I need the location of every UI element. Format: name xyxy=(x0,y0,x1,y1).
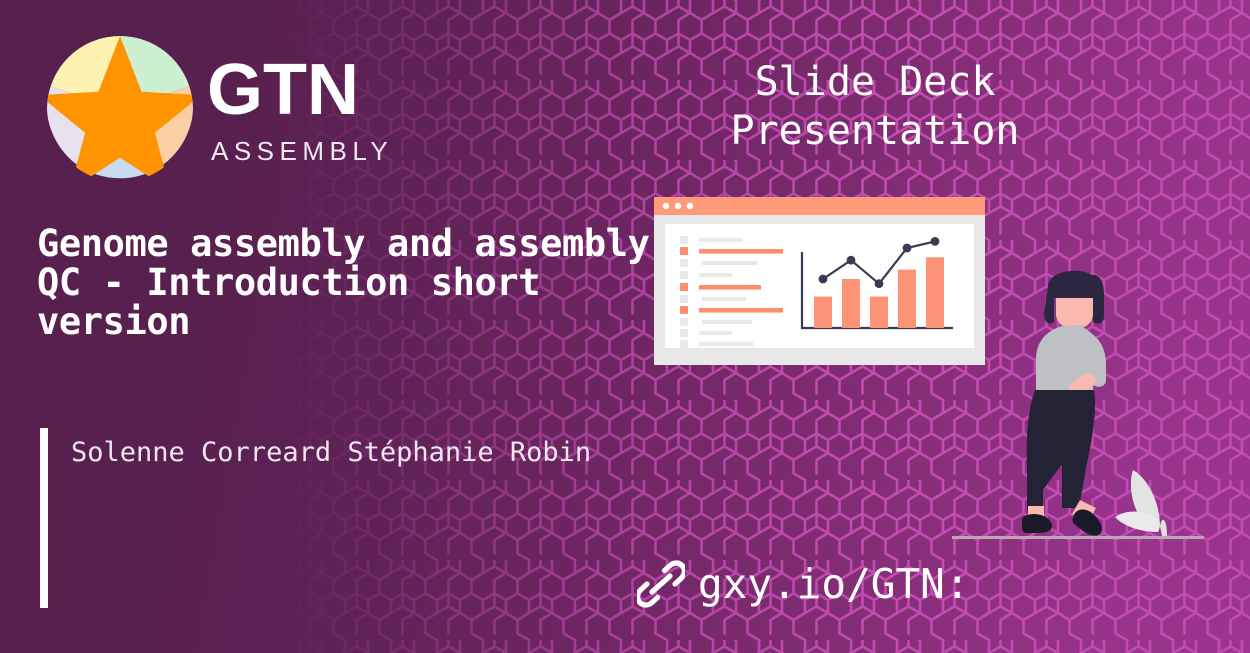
authors-names: Solenne Correard Stéphanie Robin xyxy=(71,434,591,472)
page-title: Genome assembly and assembly QC - Introd… xyxy=(37,224,667,342)
logo-wordmark: GTN xyxy=(207,54,359,126)
authors-accent-bar xyxy=(40,428,48,608)
gtn-logo: GTN ASSEMBLY xyxy=(45,28,425,188)
browser-dot xyxy=(663,203,669,209)
browser-dot xyxy=(687,203,693,209)
footer-link[interactable]: gxy.io/GTN: xyxy=(637,560,970,608)
link-chain-icon xyxy=(637,560,685,608)
deck-kind-heading: Slide Deck Presentation xyxy=(640,58,1110,156)
logo-subtitle: ASSEMBLY xyxy=(211,136,393,167)
standing-person-illustration xyxy=(992,268,1207,543)
ground-line xyxy=(952,536,1204,539)
browser-titlebar xyxy=(654,197,985,215)
browser-mockup-illustration xyxy=(654,197,985,365)
slide-cover: GTN ASSEMBLY Genome assembly and assembl… xyxy=(0,0,1250,653)
authors-block: Solenne Correard Stéphanie Robin xyxy=(40,428,591,608)
footer-link-text: gxy.io/GTN: xyxy=(698,564,970,605)
gtn-pie-star-logo-icon xyxy=(45,30,195,188)
browser-dot xyxy=(675,203,681,209)
plant-leaves xyxy=(1115,470,1167,536)
